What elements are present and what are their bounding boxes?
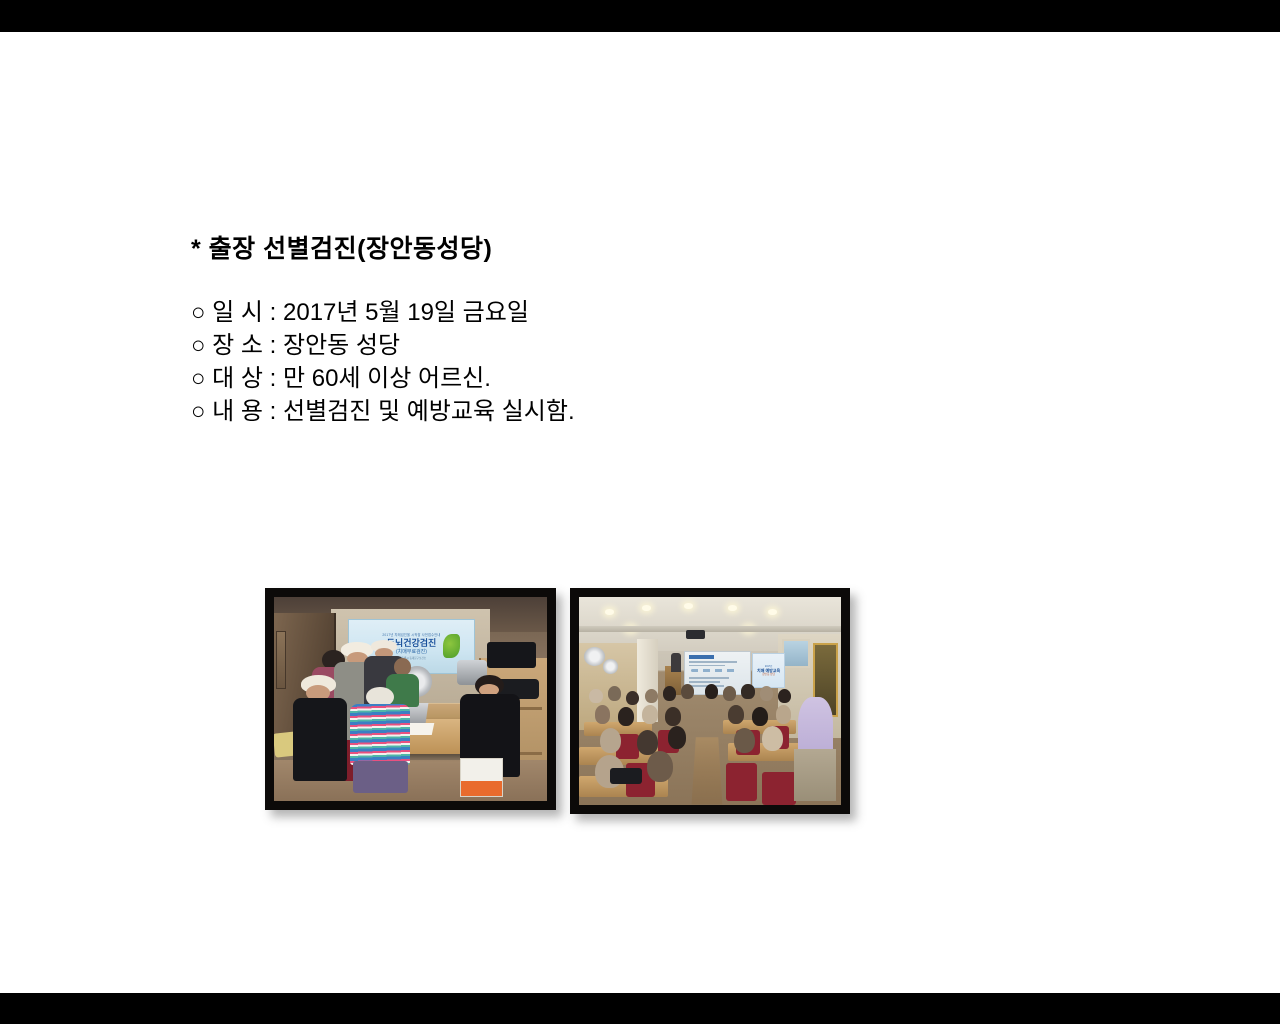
- banner-sub-text: 장안동 성당: [762, 673, 775, 676]
- audience-head: [778, 689, 791, 704]
- wall-fan: [584, 647, 605, 666]
- ceiling-light: [728, 605, 737, 610]
- striped-sweater: [350, 704, 410, 766]
- slide-text-row: [689, 677, 730, 679]
- black-bag: [487, 642, 536, 669]
- ceiling-light: [642, 605, 651, 610]
- center-aisle: [692, 737, 723, 804]
- prevention-education-lecture-photo: 2017년 치매 예방교육 장안동 성당: [570, 588, 850, 814]
- audience-head: [595, 705, 611, 724]
- list-item-datetime: ○ 일 시 : 2017년 5월 19일 금요일: [191, 296, 1051, 329]
- slide-diagram: [691, 669, 737, 673]
- list-item-contents: ○ 내 용 : 선별검진 및 예방교육 실시함.: [191, 395, 1051, 428]
- audience-head: [665, 707, 681, 726]
- ceiling-projector: [686, 630, 704, 638]
- door-panel: [276, 631, 286, 689]
- audience-chair: [762, 772, 796, 805]
- slide-text-row: [689, 665, 726, 667]
- detail-list: ○ 일 시 : 2017년 5월 19일 금요일 ○ 장 소 : 장안동 성당 …: [191, 296, 1051, 428]
- presentation-slide: * 출장 선별검진(장안동성당) ○ 일 시 : 2017년 5월 19일 금요…: [0, 32, 1280, 993]
- audience-head: [776, 705, 792, 724]
- page-title: * 출장 선별검진(장안동성당): [191, 232, 1051, 266]
- leaf-graphic: [443, 634, 461, 657]
- photo-1-scene: 2017년 치매검진을 시작할 사전접수안내 두뇌건강검진 (치매무료검진) 서…: [274, 597, 547, 801]
- ceiling-light: [768, 609, 777, 614]
- screening-registration-photo: 2017년 치매검진을 시작할 사전접수안내 두뇌건강검진 (치매무료검진) 서…: [265, 588, 556, 810]
- audience-head: [723, 686, 736, 701]
- audience-head: [741, 684, 754, 699]
- photo-2-inner: 2017년 치매 예방교육 장안동 성당: [579, 597, 841, 805]
- list-item-target: ○ 대 상 : 만 60세 이상 어르신.: [191, 362, 1051, 395]
- audience-head: [752, 707, 768, 726]
- lecture-banner: 2017년 치매 예방교육 장안동 성당: [752, 653, 785, 688]
- audience-chair: [726, 763, 757, 800]
- presenter: [671, 653, 681, 672]
- audience-head: [645, 689, 658, 704]
- list-item-location: ○ 장 소 : 장안동 성당: [191, 329, 1051, 362]
- audience-head: [734, 728, 755, 753]
- trousers: [353, 761, 408, 793]
- letterbox-top-bar: [0, 0, 1280, 32]
- window: [782, 639, 810, 668]
- audience-head: [681, 684, 694, 699]
- audience-head-front: [647, 751, 673, 782]
- audience-head: [608, 686, 621, 701]
- elder-seated-striped-sweater: [350, 687, 410, 793]
- slide-text-row: [689, 661, 737, 663]
- photo-2-scene: 2017년 치매 예방교육 장안동 성당: [579, 597, 841, 805]
- wall-fan: [603, 659, 619, 674]
- audience-head: [626, 691, 639, 706]
- gift-bag: [460, 758, 503, 797]
- black-cap: [610, 768, 641, 785]
- torso: [293, 698, 347, 781]
- ceiling-light: [605, 609, 614, 614]
- attendee-bucket-hat: [290, 675, 350, 781]
- ceiling-light: [684, 603, 693, 608]
- nun-attendee: [794, 697, 836, 801]
- audience-head: [589, 689, 602, 704]
- slide-title-bar: [689, 655, 714, 658]
- slide-stage: * 출장 선별검진(장안동성당) ○ 일 시 : 2017년 5월 19일 금요…: [0, 0, 1280, 1024]
- audience-head: [663, 686, 676, 701]
- slide-text-block: * 출장 선별검진(장안동성당) ○ 일 시 : 2017년 5월 19일 금요…: [191, 232, 1051, 428]
- audience-head: [618, 707, 634, 726]
- audience-head: [760, 686, 773, 701]
- robe: [794, 749, 836, 801]
- slide-text-row: [689, 681, 720, 683]
- audience-head: [762, 726, 783, 751]
- audience-head: [600, 728, 621, 753]
- audience-head: [668, 726, 686, 749]
- ceiling-beam: [579, 626, 841, 632]
- audience-head: [642, 705, 658, 724]
- photo-1-inner: 2017년 치매검진을 시작할 사전접수안내 두뇌건강검진 (치매무료검진) 서…: [274, 597, 547, 801]
- audience-head: [705, 684, 718, 699]
- letterbox-bottom-bar: [0, 993, 1280, 1024]
- audience-head: [728, 705, 744, 724]
